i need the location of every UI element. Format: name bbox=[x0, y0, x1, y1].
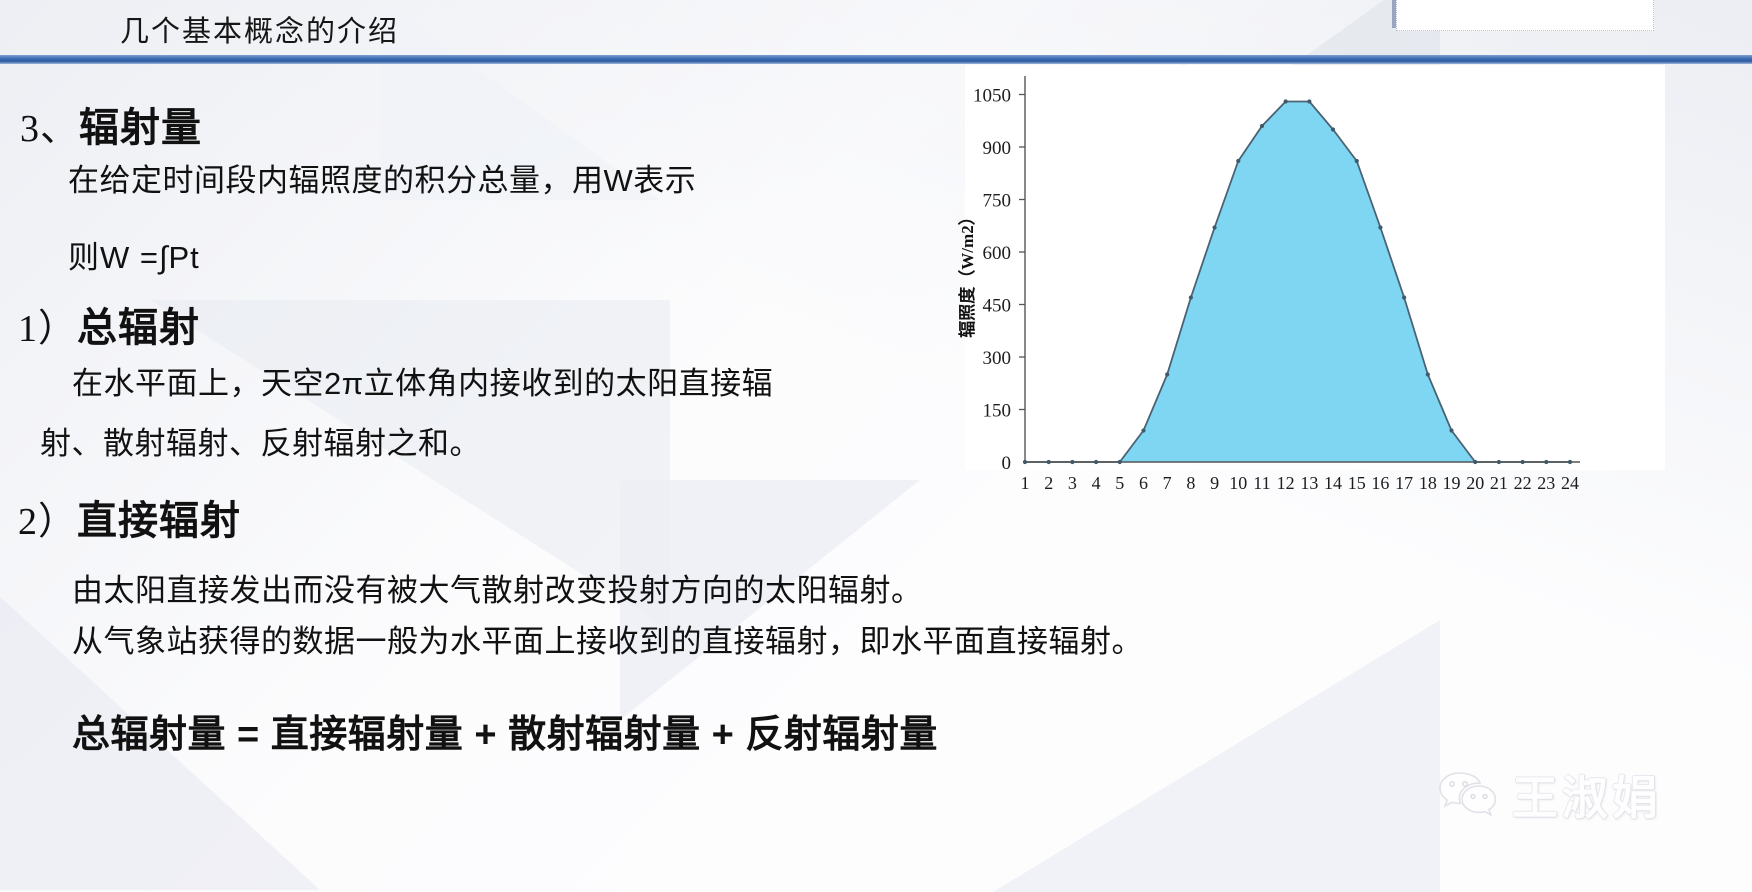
watermark-name: 王淑娟 bbox=[1512, 762, 1662, 828]
x-tick-label: 17 bbox=[1395, 473, 1413, 493]
x-tick-label: 20 bbox=[1466, 473, 1484, 493]
x-tick-label: 19 bbox=[1443, 473, 1461, 493]
x-tick-label: 2 bbox=[1044, 473, 1053, 493]
x-tick-label: 11 bbox=[1253, 473, 1270, 493]
x-tick-label: 22 bbox=[1514, 473, 1532, 493]
watermark: 王淑娟 bbox=[1438, 762, 1662, 828]
section-3-heading-label: 辐射量 bbox=[79, 106, 202, 150]
x-tick-label: 4 bbox=[1092, 473, 1101, 493]
x-tick-label: 8 bbox=[1186, 473, 1195, 493]
x-tick-label: 15 bbox=[1348, 473, 1366, 493]
x-tick-label: 18 bbox=[1419, 473, 1437, 493]
item-2-paragraph-line-2: 从气象站获得的数据一般为水平面上接收到的直接辐射，即水平面直接辐射。 bbox=[72, 616, 1143, 661]
x-tick-label: 23 bbox=[1537, 473, 1555, 493]
y-tick-label: 750 bbox=[983, 191, 1012, 212]
total-radiation-equation: 总辐射量 = 直接辐射量 + 散射辐射量 + 反射辐射量 bbox=[72, 703, 938, 758]
item-1-heading-label: 总辐射 bbox=[77, 306, 200, 350]
section-3-number: 3、 bbox=[20, 108, 79, 150]
x-tick-label: 5 bbox=[1115, 473, 1124, 493]
y-tick-label: 150 bbox=[983, 401, 1012, 422]
slide-canvas: 几个基本概念的介绍 3、辐射量 在给定时间段内辐照度的积分总量，用W表示 则W … bbox=[0, 0, 1752, 892]
item-2-heading-label: 直接辐射 bbox=[77, 499, 241, 543]
section-3-heading: 3、辐射量 bbox=[20, 95, 202, 153]
topright-placeholder-box bbox=[1396, 0, 1654, 31]
x-tick-label: 12 bbox=[1277, 473, 1295, 493]
x-tick-label: 6 bbox=[1139, 473, 1148, 493]
x-tick-label: 1 bbox=[1021, 473, 1030, 493]
y-tick-label: 900 bbox=[983, 138, 1012, 159]
y-tick-label: 300 bbox=[983, 348, 1012, 369]
x-tick-label: 10 bbox=[1229, 473, 1247, 493]
irradiance-area-chart: 0150300450600750900105012345678910111213… bbox=[880, 62, 1580, 522]
x-tick-label: 16 bbox=[1371, 473, 1389, 493]
y-tick-label: 600 bbox=[983, 243, 1012, 264]
wechat-logo-icon bbox=[1438, 769, 1498, 821]
item-2-heading: 2）直接辐射 bbox=[18, 488, 241, 546]
x-tick-label: 14 bbox=[1324, 473, 1342, 493]
item-1-paragraph-line-1: 在水平面上，天空2π立体角内接收到的太阳直接辐 bbox=[72, 358, 773, 403]
item-1-paragraph-line-2: 射、散射辐射、反射辐射之和。 bbox=[40, 418, 481, 463]
x-tick-label: 24 bbox=[1561, 473, 1579, 493]
x-tick-label: 21 bbox=[1490, 473, 1508, 493]
section-3-paragraph: 在给定时间段内辐照度的积分总量，用W表示 bbox=[68, 155, 696, 200]
y-tick-label: 450 bbox=[983, 296, 1012, 317]
x-tick-label: 13 bbox=[1300, 473, 1318, 493]
item-1-heading: 1）总辐射 bbox=[18, 295, 200, 353]
item-2-number: 2） bbox=[18, 501, 77, 543]
x-tick-label: 3 bbox=[1068, 473, 1077, 493]
y-axis-title: 辐照度（W/m2） bbox=[957, 208, 977, 337]
y-tick-label: 0 bbox=[1002, 453, 1012, 474]
x-tick-label: 7 bbox=[1163, 473, 1172, 493]
y-tick-label: 1050 bbox=[973, 86, 1011, 107]
item-1-number: 1） bbox=[18, 308, 77, 350]
item-2-paragraph-line-1: 由太阳直接发出而没有被大气散射改变投射方向的太阳辐射。 bbox=[72, 565, 923, 610]
page-title: 几个基本概念的介绍 bbox=[120, 8, 399, 50]
x-tick-label: 9 bbox=[1210, 473, 1219, 493]
section-3-formula: 则W =∫Pt bbox=[68, 232, 200, 277]
